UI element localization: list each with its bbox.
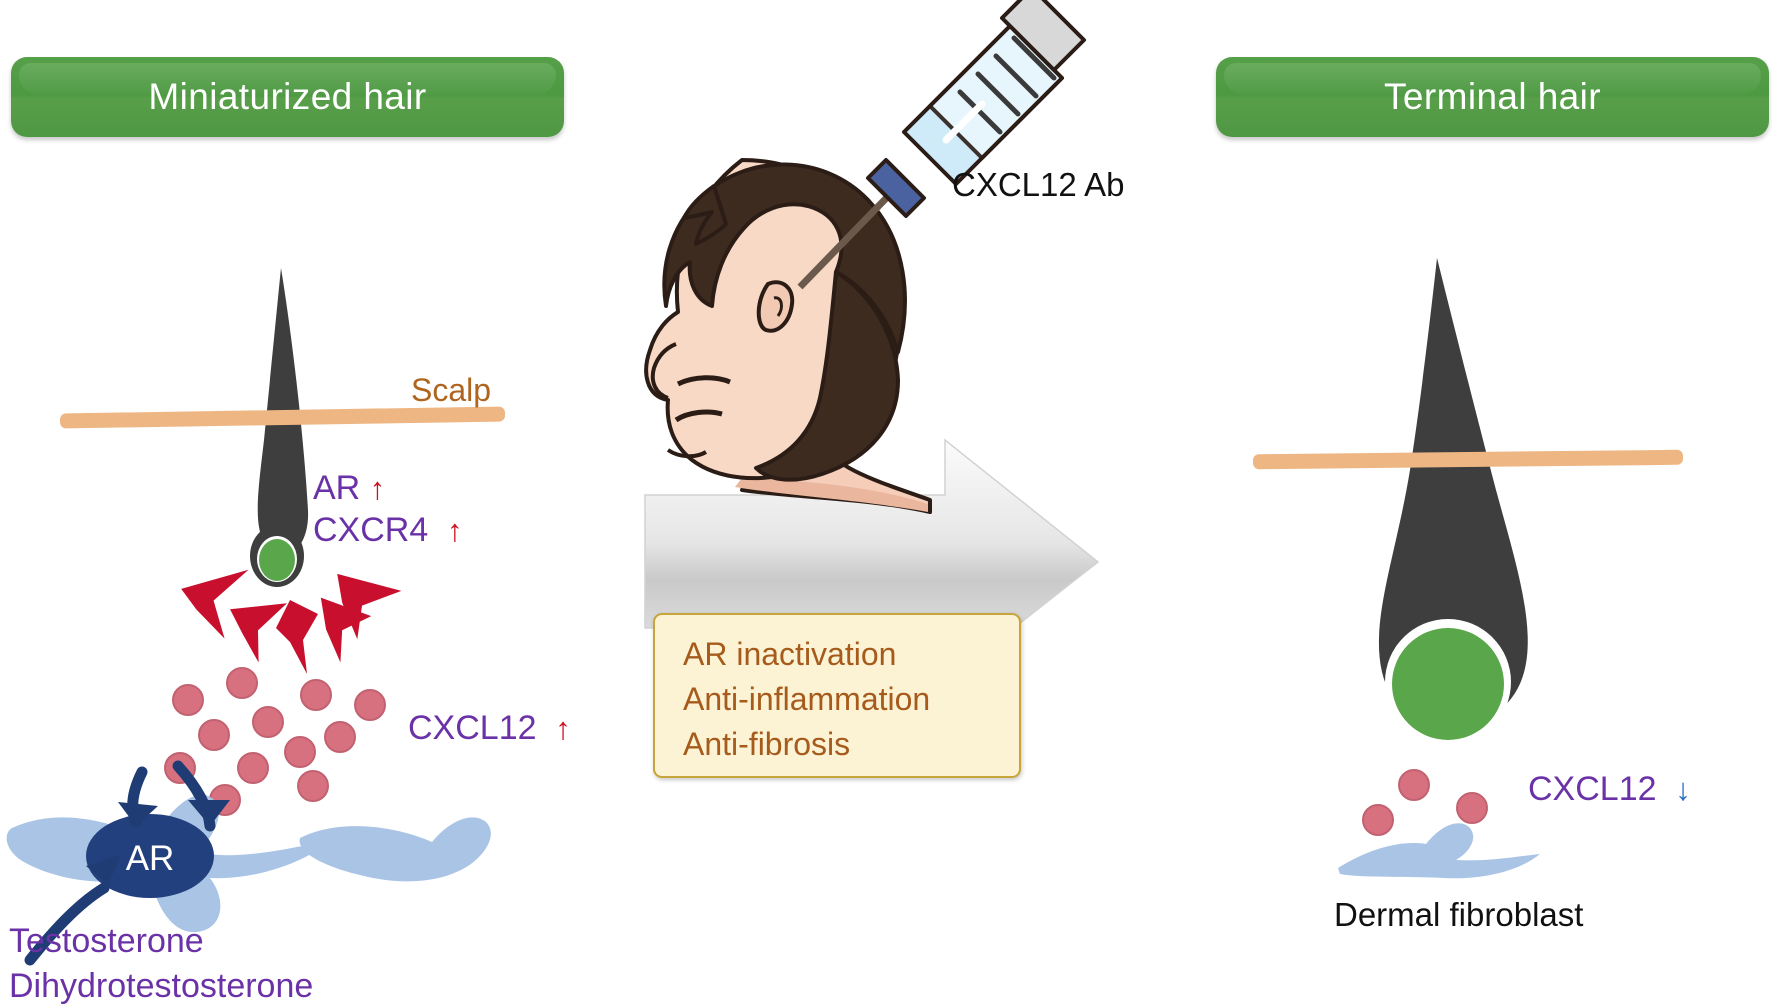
label-cxcl12-right-text: CXCL12 [1528, 770, 1657, 808]
dermal-papilla-right [1392, 628, 1504, 740]
banner-right-label: Terminal hair [1384, 76, 1601, 118]
right-panel-graphics [0, 0, 1772, 999]
arrow-down-icon: ↓ [1675, 772, 1691, 807]
label-dermal-fibroblast: Dermal fibroblast [1334, 896, 1583, 934]
label-cxcl12-down: CXCL12 ↓ [1528, 770, 1691, 809]
cxcl12-dots-right [1363, 770, 1487, 835]
figure-canvas: Miniaturized hair Terminal hair [0, 0, 1772, 999]
banner-left-label: Miniaturized hair [148, 76, 426, 118]
terminal-follicle-icon [1379, 258, 1528, 745]
